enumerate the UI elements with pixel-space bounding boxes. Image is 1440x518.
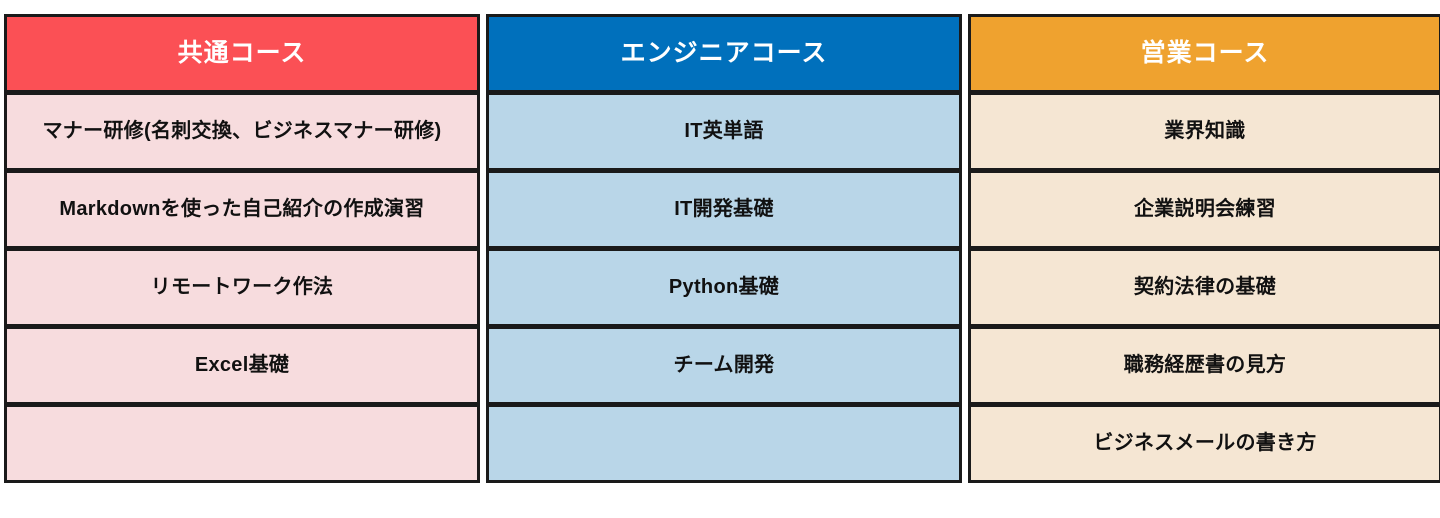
table-cell: Markdownを使った自己紹介の作成演習 — [4, 171, 480, 249]
course-header-engineer-course: エンジニアコース — [486, 14, 962, 93]
table-cell: 企業説明会練習 — [968, 171, 1440, 249]
table-cell: 契約法律の基礎 — [968, 249, 1440, 327]
table-cell: ビジネスメールの書き方 — [968, 405, 1440, 483]
course-header-common-course: 共通コース — [4, 14, 480, 93]
table-cell: チーム開発 — [486, 327, 962, 405]
table-cell: マナー研修(名刺交換、ビジネスマナー研修) — [4, 93, 480, 171]
table-cell: Python基礎 — [486, 249, 962, 327]
course-column-engineer-course: エンジニアコースIT英単語IT開発基礎Python基礎チーム開発 — [486, 14, 962, 485]
table-cell-empty — [4, 405, 480, 483]
table-cell: IT英単語 — [486, 93, 962, 171]
course-column-common-course: 共通コースマナー研修(名刺交換、ビジネスマナー研修)Markdownを使った自己… — [4, 14, 480, 485]
table-cell: 業界知識 — [968, 93, 1440, 171]
course-comparison-table: 共通コースマナー研修(名刺交換、ビジネスマナー研修)Markdownを使った自己… — [4, 14, 1436, 485]
table-cell: 職務経歴書の見方 — [968, 327, 1440, 405]
course-header-sales-course: 営業コース — [968, 14, 1440, 93]
table-cell: リモートワーク作法 — [4, 249, 480, 327]
table-cell: IT開発基礎 — [486, 171, 962, 249]
course-column-sales-course: 営業コース業界知識企業説明会練習契約法律の基礎職務経歴書の見方ビジネスメールの書… — [968, 14, 1440, 485]
table-cell: Excel基礎 — [4, 327, 480, 405]
table-cell-empty — [486, 405, 962, 483]
